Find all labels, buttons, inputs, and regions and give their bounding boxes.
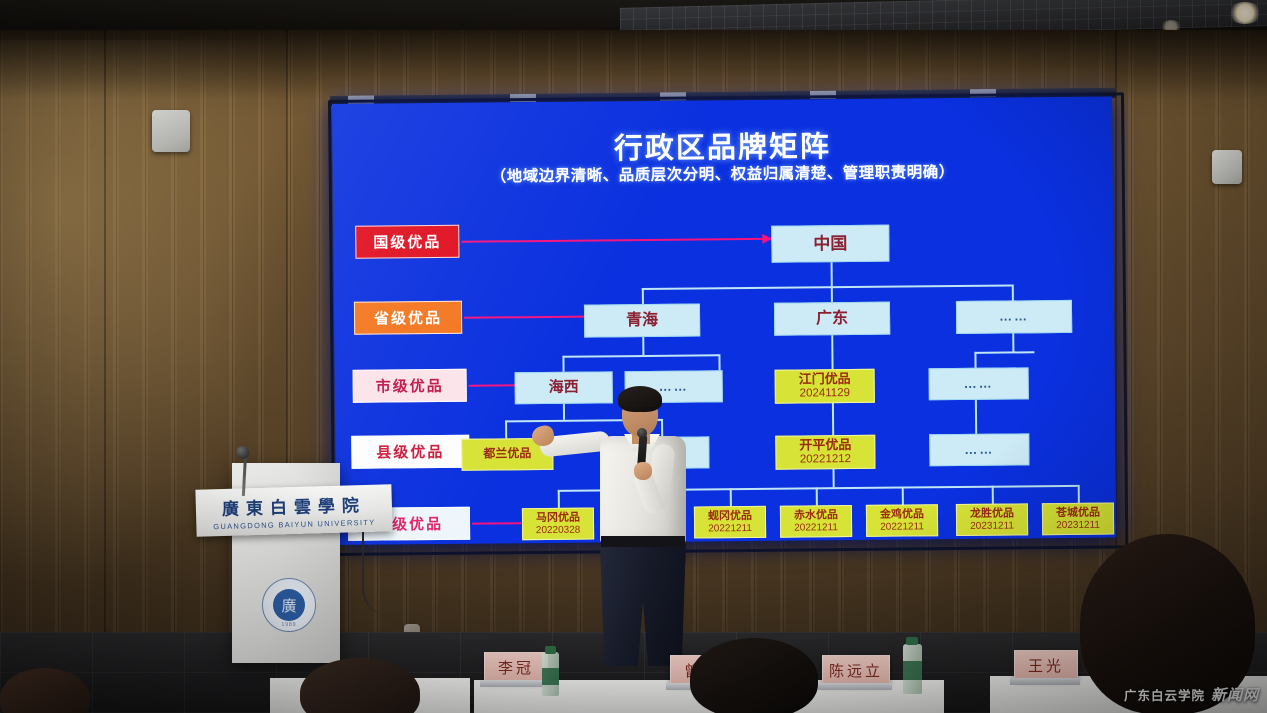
node-date: 20220328 — [536, 524, 581, 536]
node-town: 蚬冈优品 20221211 — [694, 506, 766, 539]
connector — [563, 404, 565, 420]
node-label: 江门优品 — [799, 372, 851, 387]
node-label: 海西 — [549, 379, 579, 396]
wall-seam — [104, 30, 106, 640]
node-town: 金鸡优品 20221211 — [866, 504, 938, 537]
connector — [661, 419, 663, 437]
connector — [974, 352, 976, 368]
speaker-belt — [601, 536, 685, 547]
microphone-head-icon — [637, 428, 647, 438]
podium-mic-icon — [236, 446, 249, 459]
nameplate-base — [818, 683, 892, 690]
bottle-cap-icon — [906, 637, 918, 645]
node-province-qinghai: 青海 — [584, 303, 700, 337]
node-town: 马冈优品 20220328 — [522, 508, 594, 541]
node-label: 苍城优品 — [1056, 507, 1100, 520]
arrow-to-country — [461, 238, 771, 243]
watermark-org: 广东白云学院 — [1124, 685, 1205, 704]
connector — [642, 288, 644, 304]
connector — [833, 467, 835, 487]
node-label: …… — [964, 442, 994, 457]
wall-speaker-icon — [152, 110, 190, 152]
connector — [975, 400, 977, 434]
node-label: …… — [659, 379, 689, 394]
connector — [562, 354, 718, 357]
presentation-screen: 行政区品牌矩阵 （地域边界清晰、品质层次分明、权益归属清楚、管理职责明确） 国级… — [332, 97, 1116, 545]
connector — [1078, 485, 1080, 503]
node-date: 20231211 — [970, 520, 1014, 532]
node-label: 马冈优品 — [536, 512, 580, 525]
nameplate: 陈远立 — [822, 655, 890, 685]
connector — [562, 356, 564, 372]
podium-name-en: GUANGDONG BAIYUN UNIVERSITY — [213, 517, 375, 531]
bottle-label — [542, 668, 559, 685]
audience-head — [690, 638, 818, 713]
tier-label-city: 市级优品 — [353, 369, 467, 403]
nameplate-label: 王光 — [1028, 655, 1064, 676]
nameplate-base — [480, 680, 550, 687]
node-county-kaiping: 开平优品 20221212 — [775, 435, 875, 470]
connector — [831, 286, 833, 302]
connector — [642, 284, 1012, 289]
nameplate-label: 陈远立 — [829, 660, 883, 681]
node-city-more-2: …… — [929, 367, 1029, 400]
seal-glyph: 廣 — [273, 589, 305, 621]
nameplate-label: 李冠 — [498, 657, 534, 678]
node-label: 金鸡优品 — [880, 509, 924, 522]
bottle-label — [903, 661, 922, 680]
node-town: 苍城优品 20231211 — [1042, 503, 1114, 536]
node-label: 都兰优品 — [483, 447, 531, 461]
node-city-jiangmen: 江门优品 20241129 — [775, 369, 875, 404]
connector — [1012, 284, 1014, 300]
tier-label-national: 国级优品 — [355, 225, 459, 259]
node-label: …… — [999, 310, 1029, 325]
node-label: 中国 — [813, 234, 847, 253]
node-county-more-2: …… — [929, 433, 1029, 466]
node-date: 20221211 — [794, 522, 838, 534]
tier-label-provincial: 省级优品 — [354, 301, 462, 335]
connector — [558, 490, 560, 508]
nameplate-base — [1010, 678, 1080, 685]
connector — [992, 486, 994, 504]
university-seal: 廣 1989 — [262, 578, 316, 632]
cable — [362, 520, 390, 616]
connector — [816, 487, 818, 505]
connector — [832, 401, 834, 435]
connector — [718, 354, 720, 370]
connector — [831, 335, 833, 369]
node-label: 赤水优品 — [794, 509, 838, 522]
watermark-site: 新闻网 — [1211, 684, 1259, 705]
podium-sign: 廣東白雲學院 GUANGDONG BAIYUN UNIVERSITY — [195, 484, 392, 536]
wall-speaker-icon — [1212, 150, 1242, 184]
node-date: 20221211 — [708, 523, 752, 535]
connector — [902, 487, 904, 505]
node-town: 龙胜优品 20231211 — [956, 503, 1028, 536]
node-city-haixi: 海西 — [515, 371, 613, 404]
connector — [642, 337, 644, 355]
node-label: 青海 — [626, 311, 658, 329]
node-province-guangdong: 广东 — [774, 302, 890, 336]
node-province-more: …… — [956, 300, 1072, 334]
speaker-right-hand — [634, 462, 652, 480]
seal-inner: 廣 — [273, 589, 305, 621]
node-label: 广东 — [816, 310, 848, 328]
nameplate: 王光 — [1014, 650, 1078, 680]
node-town: 赤水优品 20221211 — [780, 505, 852, 538]
connector — [1012, 333, 1014, 351]
connector — [730, 488, 732, 506]
node-date: 20221212 — [800, 453, 851, 466]
connector — [505, 420, 507, 438]
connector — [974, 351, 1034, 353]
seal-year: 1989 — [263, 622, 315, 628]
node-country: 中国 — [771, 225, 889, 263]
lecture-hall-photo: 行政区品牌矩阵 （地域边界清晰、品质层次分明、权益归属清楚、管理职责明确） 国级… — [0, 0, 1267, 713]
node-label: 开平优品 — [799, 438, 851, 453]
bottle-cap-icon — [545, 646, 556, 654]
news-watermark: 广东白云学院 新闻网 — [1124, 684, 1259, 705]
glasses-icon — [624, 405, 656, 414]
node-label: …… — [964, 376, 994, 391]
node-label: 蚬冈优品 — [708, 510, 752, 523]
node-date: 20241129 — [800, 387, 850, 400]
node-date: 20221211 — [880, 521, 924, 533]
node-date: 20231211 — [1056, 519, 1100, 531]
node-label: 龙胜优品 — [970, 508, 1014, 521]
tier-label-county: 县级优品 — [351, 435, 469, 469]
nameplate: 李冠 — [484, 652, 548, 682]
ceiling-light — [1228, 2, 1262, 24]
connector — [831, 262, 833, 286]
